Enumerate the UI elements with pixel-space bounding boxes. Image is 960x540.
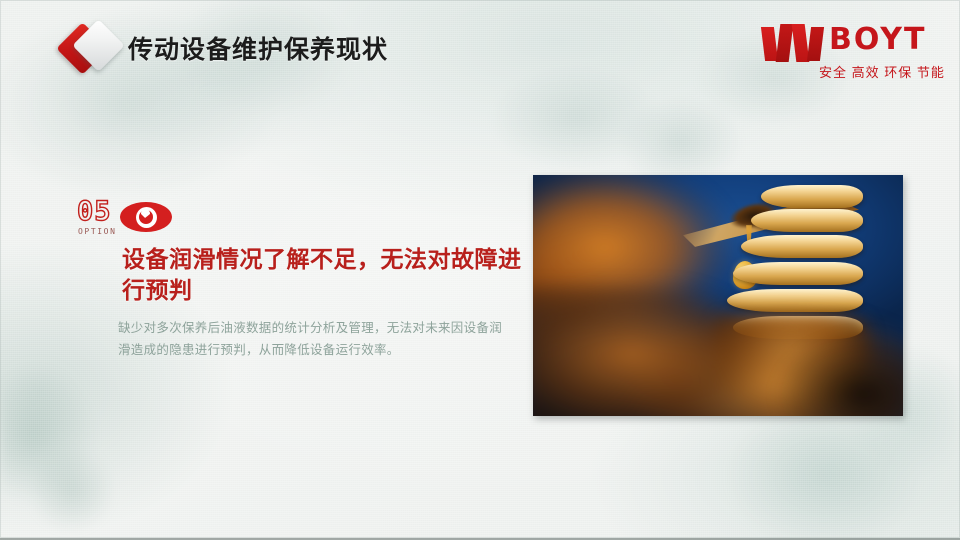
option-label: OPTION — [78, 227, 117, 236]
gear-tooth — [733, 262, 863, 285]
gear-tooth — [741, 235, 863, 258]
option-number: 05 — [77, 198, 112, 225]
double-diamond-icon — [62, 22, 124, 74]
eye-icon — [120, 200, 172, 234]
page-title: 传动设备维护保养现状 — [128, 30, 388, 66]
photo-dark-corner — [723, 296, 903, 416]
gear-tooth — [761, 185, 863, 208]
gear-tooth — [751, 209, 863, 232]
brand-name: BOYT — [829, 22, 927, 57]
brand-logo: BOYT 安全 高效 环保 节能 — [763, 22, 938, 80]
content-body-text: 缺少对多次保养后油液数据的统计分析及管理，无法对未来因设备润滑造成的隐患进行预判… — [118, 318, 508, 362]
brand-slogan: 安全 高效 环保 节能 — [819, 62, 945, 81]
boyt-folded-panels-icon — [763, 24, 825, 62]
oil-drop-on-gear-photo — [533, 175, 903, 416]
slide-root: 传动设备维护保养现状 BOYT 安全 高效 环保 节能 05 OPTION 设备… — [0, 0, 960, 540]
slide-header: 传动设备维护保养现状 BOYT 安全 高效 环保 节能 — [0, 0, 960, 96]
content-headline: 设备润滑情况了解不足，无法对故障进行预判 — [122, 244, 522, 305]
logo-fold-4 — [807, 27, 824, 61]
logo-fold-2 — [776, 24, 794, 62]
